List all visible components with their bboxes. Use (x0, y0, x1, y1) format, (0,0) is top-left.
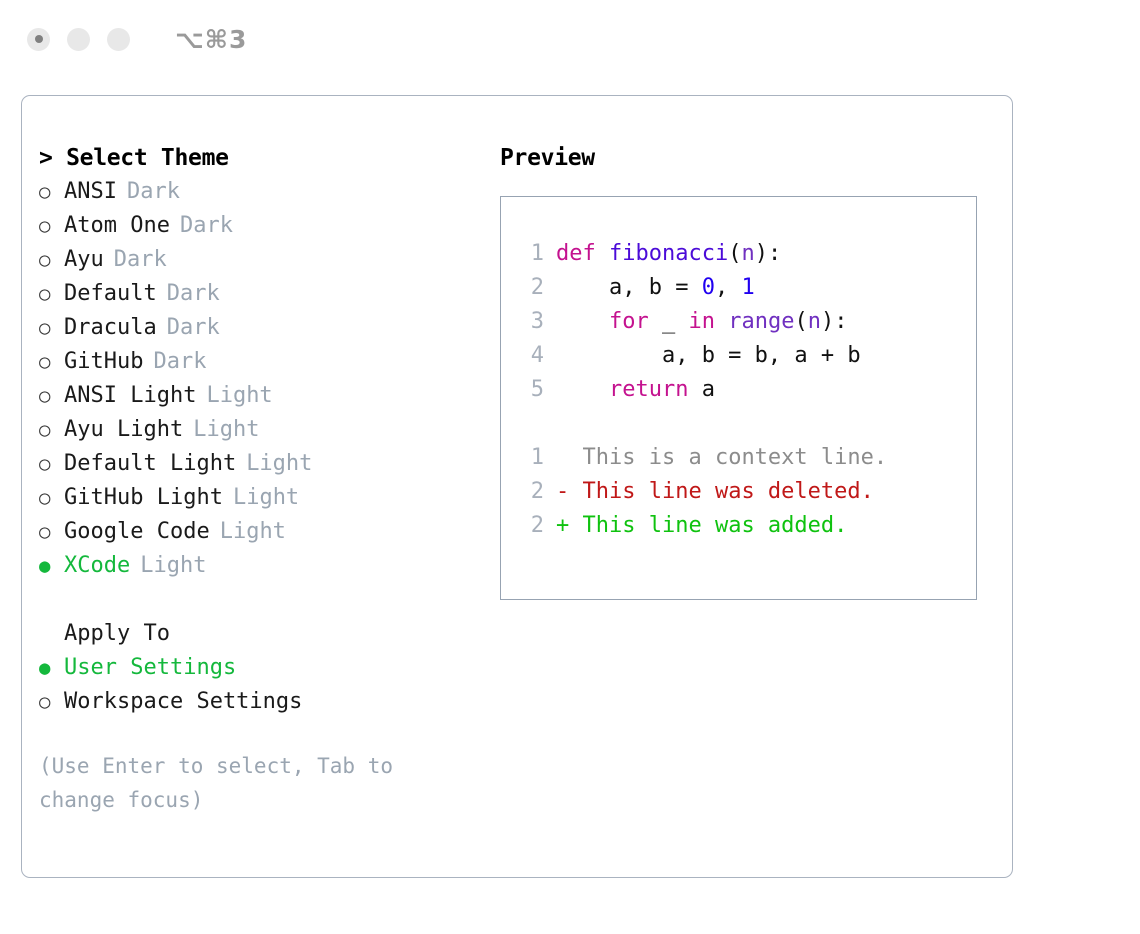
diff-sign (556, 445, 583, 470)
theme-option-ansi-light[interactable]: ○ANSI LightLight (39, 379, 499, 413)
theme-option-ayu[interactable]: ○AyuDark (39, 243, 499, 277)
radio-unselected-icon: ○ (39, 345, 64, 379)
code-token-pln: ( (728, 241, 741, 266)
theme-option-label: Ayu (64, 243, 104, 277)
code-token-num: 0 (702, 275, 715, 300)
code-line: 3 for _ in range(n): (516, 305, 976, 339)
radio-unselected-icon: ○ (39, 175, 64, 209)
diff-line-ctx: 1 This is a context line. (516, 441, 976, 475)
theme-option-label: Dracula (64, 311, 157, 345)
diff-sample: 1 This is a context line.2- This line wa… (516, 441, 976, 543)
theme-option-github[interactable]: ○GitHubDark (39, 345, 499, 379)
diff-line-number: 2 (516, 475, 544, 509)
theme-option-ayu-light[interactable]: ○Ayu LightLight (39, 413, 499, 447)
theme-variant-tag: Dark (127, 175, 180, 209)
diff-line-add: 2+ This line was added. (516, 509, 976, 543)
radio-unselected-icon: ○ (39, 515, 64, 549)
diff-line-number: 2 (516, 509, 544, 543)
code-diff-gap (516, 407, 976, 441)
theme-option-label: ANSI Light (64, 379, 196, 413)
code-token-var: n (808, 309, 821, 334)
theme-option-label: Default (64, 277, 157, 311)
code-token-kw: for (609, 309, 649, 334)
radio-unselected-icon: ○ (39, 277, 64, 311)
code-token-pln: a, b = (556, 275, 702, 300)
main-panel: > Select Theme ○ANSIDark○Atom OneDark○Ay… (21, 95, 1013, 878)
code-token-pln: _ (649, 309, 689, 334)
code-line-content: return a (556, 373, 715, 407)
apply-to-option-label: User Settings (64, 651, 236, 685)
theme-option-label: Atom One (64, 209, 170, 243)
theme-option-label: Google Code (64, 515, 210, 549)
code-line-number: 4 (516, 339, 544, 373)
code-token-pln: , (715, 275, 742, 300)
theme-option-label: ANSI (64, 175, 117, 209)
apply-to-option-user-settings[interactable]: ●User Settings (39, 651, 499, 685)
diff-line-content: This is a context line. (556, 441, 887, 475)
code-line-number: 5 (516, 373, 544, 407)
code-line-content: def fibonacci(n): (556, 237, 781, 271)
keyboard-shortcut-badge: ⌥⌘3 (175, 27, 247, 52)
radio-unselected-icon: ○ (39, 311, 64, 345)
code-token-var: n (741, 241, 754, 266)
list-gap (39, 583, 499, 617)
theme-option-label: GitHub Light (64, 481, 223, 515)
theme-variant-tag: Light (193, 413, 259, 447)
radio-unselected-icon: ○ (39, 685, 64, 719)
code-token-pln: a, b = b, a + b (556, 343, 861, 368)
keyboard-hint-text: (Use Enter to select, Tab to change focu… (39, 749, 449, 817)
window-close-dot[interactable] (27, 28, 50, 51)
diff-sign: - (556, 479, 583, 504)
code-sample: 1def fibonacci(n):2 a, b = 0, 13 for _ i… (516, 237, 976, 407)
theme-list: ○ANSIDark○Atom OneDark○AyuDark○DefaultDa… (39, 175, 499, 583)
code-token-call: range (728, 309, 794, 334)
code-token-pln: ( (794, 309, 807, 334)
code-token-kw: return (609, 377, 688, 402)
code-token-pln (715, 309, 728, 334)
code-token-pln: ): (755, 241, 782, 266)
code-token-num: 1 (741, 275, 754, 300)
theme-variant-tag: Light (206, 379, 272, 413)
diff-line-content: - This line was deleted. (556, 475, 874, 509)
window-maximize-dot[interactable] (107, 28, 130, 51)
theme-variant-tag: Dark (167, 277, 220, 311)
code-line: 4 a, b = b, a + b (516, 339, 976, 373)
code-line-content: a, b = 0, 1 (556, 271, 755, 305)
radio-unselected-icon: ○ (39, 379, 64, 413)
theme-variant-tag: Light (246, 447, 312, 481)
code-token-pln (556, 377, 609, 402)
theme-option-xcode[interactable]: ●XCodeLight (39, 549, 499, 583)
theme-option-ansi[interactable]: ○ANSIDark (39, 175, 499, 209)
preview-column: Preview 1def fibonacci(n):2 a, b = 0, 13… (500, 141, 995, 600)
theme-option-label: Ayu Light (64, 413, 183, 447)
apply-to-option-workspace-settings[interactable]: ○Workspace Settings (39, 685, 499, 719)
theme-option-label: Default Light (64, 447, 236, 481)
code-token-pln: ): (821, 309, 848, 334)
radio-selected-icon: ● (39, 549, 64, 583)
radio-selected-icon: ● (39, 651, 64, 685)
code-line-number: 1 (516, 237, 544, 271)
apply-to-list: ●User Settings○Workspace Settings (39, 651, 499, 719)
theme-select-column: > Select Theme ○ANSIDark○Atom OneDark○Ay… (39, 141, 499, 817)
theme-variant-tag: Light (233, 481, 299, 515)
theme-option-default-light[interactable]: ○Default LightLight (39, 447, 499, 481)
code-token-pln: a (688, 377, 715, 402)
theme-picker-window: ⌥⌘3 > Select Theme ○ANSIDark○Atom OneDar… (0, 0, 1140, 934)
code-token-kw: def (556, 241, 609, 266)
code-token-pln (556, 309, 609, 334)
theme-option-github-light[interactable]: ○GitHub LightLight (39, 481, 499, 515)
code-line: 2 a, b = 0, 1 (516, 271, 976, 305)
diff-text: This line was deleted. (583, 479, 874, 504)
theme-variant-tag: Dark (114, 243, 167, 277)
diff-line-content: + This line was added. (556, 509, 847, 543)
theme-variant-tag: Light (140, 549, 206, 583)
code-line-content: a, b = b, a + b (556, 339, 861, 373)
code-token-fn: fibonacci (609, 241, 728, 266)
theme-option-atom-one[interactable]: ○Atom OneDark (39, 209, 499, 243)
apply-to-option-label: Workspace Settings (64, 685, 302, 719)
diff-text: This is a context line. (583, 445, 888, 470)
diff-line-number: 1 (516, 441, 544, 475)
theme-option-default[interactable]: ○DefaultDark (39, 277, 499, 311)
preview-box: 1def fibonacci(n):2 a, b = 0, 13 for _ i… (500, 196, 977, 600)
theme-variant-tag: Dark (167, 311, 220, 345)
diff-text: This line was added. (583, 513, 848, 538)
radio-unselected-icon: ○ (39, 447, 64, 481)
theme-option-dracula[interactable]: ○DraculaDark (39, 311, 499, 345)
code-line-number: 3 (516, 305, 544, 339)
theme-option-label: XCode (64, 549, 130, 583)
window-titlebar: ⌥⌘3 (0, 0, 1140, 78)
theme-variant-tag: Dark (153, 345, 206, 379)
code-line-number: 2 (516, 271, 544, 305)
code-line-content: for _ in range(n): (556, 305, 847, 339)
radio-unselected-icon: ○ (39, 209, 64, 243)
code-line: 5 return a (516, 373, 976, 407)
theme-variant-tag: Light (220, 515, 286, 549)
radio-unselected-icon: ○ (39, 243, 64, 277)
preview-heading: Preview (500, 141, 995, 175)
code-line: 1def fibonacci(n): (516, 237, 976, 271)
theme-variant-tag: Dark (180, 209, 233, 243)
select-theme-heading: > Select Theme (39, 141, 499, 175)
code-token-kw: in (688, 309, 715, 334)
radio-unselected-icon: ○ (39, 413, 64, 447)
window-minimize-dot[interactable] (67, 28, 90, 51)
radio-unselected-icon: ○ (39, 481, 64, 515)
theme-option-label: GitHub (64, 345, 143, 379)
diff-sign: + (556, 513, 583, 538)
diff-line-del: 2- This line was deleted. (516, 475, 976, 509)
apply-to-heading: Apply To (39, 617, 499, 651)
theme-option-google-code[interactable]: ○Google CodeLight (39, 515, 499, 549)
traffic-lights (27, 28, 130, 51)
